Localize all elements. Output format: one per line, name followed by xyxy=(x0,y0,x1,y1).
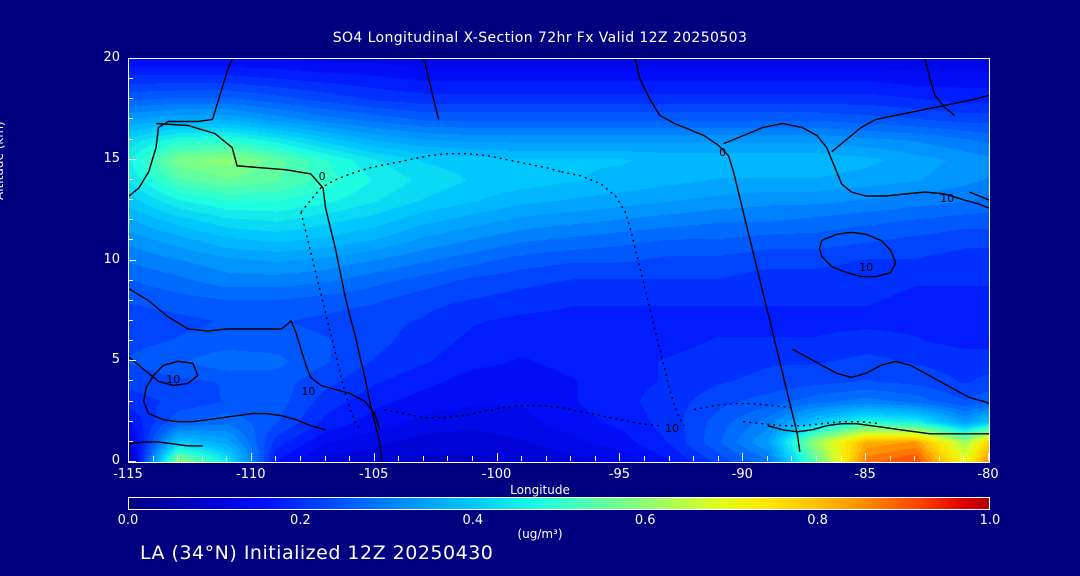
figure-canvas: SO4 Longitudinal X-Section 72hr Fx Valid… xyxy=(0,0,1080,576)
x-tick-mark xyxy=(791,456,792,461)
y-tick-mark xyxy=(128,320,133,321)
y-tick-label: 10 xyxy=(80,252,120,267)
x-tick-label: -105 xyxy=(344,467,404,482)
x-tick-mark xyxy=(767,456,768,461)
colorbar-tick-label: 0.8 xyxy=(788,513,848,528)
x-tick-mark xyxy=(669,456,670,461)
y-tick-label: 0 xyxy=(80,453,120,468)
y-tick-mark xyxy=(128,300,133,301)
y-tick-mark xyxy=(128,179,133,180)
y-tick-label: 20 xyxy=(80,50,120,65)
contour-value-label: 10 xyxy=(665,422,679,435)
y-tick-mark xyxy=(128,340,133,341)
x-tick-mark xyxy=(128,453,129,461)
x-tick-mark xyxy=(251,453,252,461)
y-tick-mark xyxy=(128,260,136,261)
x-tick-mark xyxy=(988,453,989,461)
x-tick-mark xyxy=(816,456,817,461)
x-tick-mark xyxy=(865,453,866,461)
x-tick-mark xyxy=(742,453,743,461)
x-tick-mark xyxy=(521,456,522,461)
x-tick-label: -115 xyxy=(98,467,158,482)
x-tick-mark xyxy=(398,456,399,461)
x-tick-mark xyxy=(619,453,620,461)
x-tick-mark xyxy=(447,456,448,461)
colorbar-tick-label: 1.0 xyxy=(960,513,1020,528)
x-tick-mark xyxy=(325,456,326,461)
y-tick-mark xyxy=(128,461,136,462)
y-tick-mark xyxy=(128,441,133,442)
y-axis-label: Altitude (km) xyxy=(0,121,6,200)
contour-value-label: 10 xyxy=(166,373,180,386)
x-tick-mark xyxy=(423,456,424,461)
x-tick-mark xyxy=(841,456,842,461)
y-tick-mark xyxy=(128,98,133,99)
x-axis-label: Longitude xyxy=(0,483,1080,497)
y-tick-label: 15 xyxy=(80,151,120,166)
x-tick-mark xyxy=(275,456,276,461)
y-tick-mark xyxy=(128,58,136,59)
x-tick-label: -100 xyxy=(467,467,527,482)
figure-caption: LA (34°N) Initialized 12Z 20250430 xyxy=(140,542,493,564)
colorbar[interactable] xyxy=(128,497,990,510)
y-tick-mark xyxy=(128,219,133,220)
colorbar-tick-label: 0.2 xyxy=(270,513,330,528)
x-tick-mark xyxy=(472,456,473,461)
x-tick-label: -110 xyxy=(221,467,281,482)
x-tick-mark xyxy=(890,456,891,461)
x-tick-mark xyxy=(939,456,940,461)
x-tick-mark xyxy=(153,456,154,461)
x-tick-mark xyxy=(595,456,596,461)
y-tick-mark xyxy=(128,239,133,240)
y-tick-mark xyxy=(128,159,136,160)
y-tick-mark xyxy=(128,360,136,361)
x-tick-mark xyxy=(644,456,645,461)
y-tick-mark xyxy=(128,380,133,381)
y-tick-mark xyxy=(128,421,133,422)
x-tick-mark xyxy=(374,453,375,461)
y-tick-mark xyxy=(128,139,133,140)
x-tick-mark xyxy=(963,456,964,461)
contour-value-label: 0 xyxy=(319,170,326,183)
y-tick-mark xyxy=(128,280,133,281)
y-tick-label: 5 xyxy=(80,352,120,367)
x-tick-label: -80 xyxy=(958,467,1018,482)
x-tick-mark xyxy=(570,456,571,461)
x-tick-label: -95 xyxy=(589,467,649,482)
colorbar-gradient xyxy=(129,498,989,509)
x-tick-mark xyxy=(349,456,350,461)
x-tick-mark xyxy=(546,456,547,461)
y-tick-mark xyxy=(128,199,133,200)
colorbar-tick-label: 0.4 xyxy=(443,513,503,528)
y-tick-mark xyxy=(128,401,133,402)
x-tick-label: -85 xyxy=(835,467,895,482)
x-tick-mark xyxy=(497,453,498,461)
contour-value-label: 10 xyxy=(940,192,954,205)
contour-value-label: 0 xyxy=(719,146,726,159)
y-tick-mark xyxy=(128,118,133,119)
x-tick-mark xyxy=(226,456,227,461)
x-tick-mark xyxy=(177,456,178,461)
x-tick-label: -90 xyxy=(712,467,772,482)
colorbar-tick-label: 0.6 xyxy=(615,513,675,528)
colorbar-tick-label: 0.0 xyxy=(98,513,158,528)
x-tick-mark xyxy=(914,456,915,461)
contour-value-label: 10 xyxy=(859,261,873,274)
contour-value-label: 10 xyxy=(301,385,315,398)
y-tick-mark xyxy=(128,78,133,79)
x-tick-mark xyxy=(202,456,203,461)
x-tick-mark xyxy=(718,456,719,461)
x-tick-mark xyxy=(300,456,301,461)
colorbar-units-label: (ug/m³) xyxy=(0,527,1080,541)
page-title: SO4 Longitudinal X-Section 72hr Fx Valid… xyxy=(0,30,1080,46)
x-tick-mark xyxy=(693,456,694,461)
